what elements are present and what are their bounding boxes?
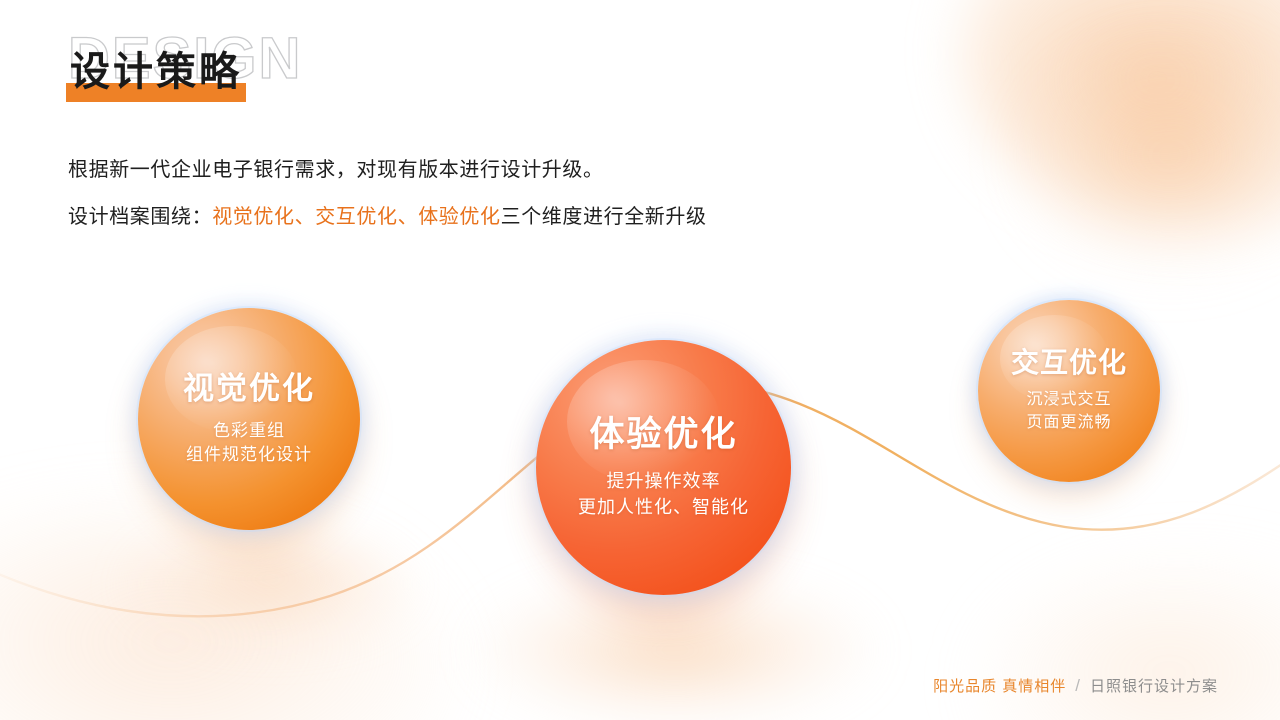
slide-canvas: DESIGN 设计策略 根据新一代企业电子银行需求，对现有版本进行设计升级。 设… [0,0,1280,720]
page-title: 设计策略 [70,50,242,94]
body-line-2-suffix: 三个维度进行全新升级 [501,206,707,228]
sphere-experience-optimization[interactable]: 体验优化 提升操作效率 更加人性化、智能化 [536,340,791,595]
sphere-experience-subtitle-line-1: 提升操作效率 [578,469,749,495]
sphere-visual-subtitle: 色彩重组 组件规范化设计 [186,419,312,467]
background-blob-top-right-secondary [1020,40,1280,270]
sphere-visual-optimization[interactable]: 视觉优化 色彩重组 组件规范化设计 [138,308,360,530]
body-line-1: 根据新一代企业电子银行需求，对现有版本进行设计升级。 [68,155,968,186]
footer-separator: / [1075,676,1081,696]
sphere-interaction-subtitle-line-2: 页面更流畅 [1026,412,1111,435]
body-line-2-highlight: 视觉优化、交互优化、体验优化 [212,206,500,228]
sphere-visual-title: 视觉优化 [183,371,315,407]
body-copy: 根据新一代企业电子银行需求，对现有版本进行设计升级。 设计档案围绕：视觉优化、交… [68,155,968,233]
body-line-2-prefix: 设计档案围绕： [68,206,212,228]
footer-slogan: 阳光品质 真情相伴 [933,675,1066,696]
background-blob-top-right [960,0,1280,230]
footer-organization: 日照银行设计方案 [1090,675,1218,696]
sphere-experience-ground-shadow [470,575,880,720]
sphere-visual-subtitle-line-1: 色彩重组 [186,419,312,443]
sphere-visual-ground-shadow [120,530,420,650]
sphere-interaction-subtitle: 沉浸式交互 页面更流畅 [1026,389,1111,434]
sphere-experience-subtitle-line-2: 更加人性化、智能化 [578,495,749,521]
sphere-experience-title: 体验优化 [589,415,737,455]
page-title-block: DESIGN 设计策略 [66,30,486,120]
sphere-interaction-title: 交互优化 [1011,347,1127,379]
background-blob-bottom-right [980,560,1280,720]
footer: 阳光品质 真情相伴 / 日照银行设计方案 [933,675,1218,696]
body-line-2: 设计档案围绕：视觉优化、交互优化、体验优化三个维度进行全新升级 [68,202,968,233]
sphere-visual-subtitle-line-2: 组件规范化设计 [186,443,312,467]
sphere-interaction-subtitle-line-1: 沉浸式交互 [1026,389,1111,412]
background-blob-bottom-left [0,510,450,720]
sphere-experience-subtitle: 提升操作效率 更加人性化、智能化 [578,469,749,520]
sphere-interaction-optimization[interactable]: 交互优化 沉浸式交互 页面更流畅 [978,300,1160,482]
